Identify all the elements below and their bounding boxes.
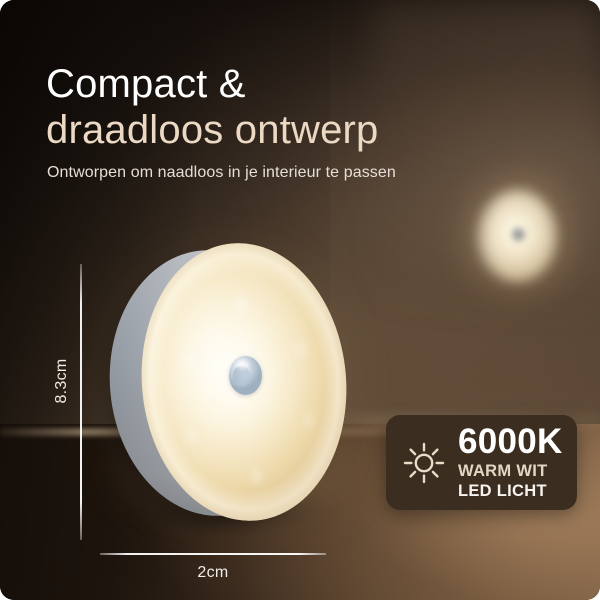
product-marketing-image: Compact & draadloos ontwerp Ontworpen om… <box>0 0 600 600</box>
height-dimension-line <box>80 264 82 540</box>
led-puck-light-product <box>104 238 354 528</box>
subtitle: Ontworpen om naadloos in je interieur te… <box>47 164 396 182</box>
headline-line-1: Compact & <box>46 62 546 107</box>
width-dimension-label: 2cm <box>100 564 326 582</box>
badge-subtitle-line-2: LED LICHT <box>458 481 563 501</box>
width-dimension-line <box>100 553 326 555</box>
motion-sensor-highlight <box>236 360 248 369</box>
background-lamp-sensor-icon <box>512 228 525 241</box>
badge-text-block: 6000K WARM WIT LED LICHT <box>458 424 563 501</box>
sun-icon <box>400 439 448 487</box>
color-temperature-badge: 6000K WARM WIT LED LICHT <box>386 415 577 510</box>
badge-subtitle-line-1: WARM WIT <box>458 461 563 481</box>
headline-line-2: draadloos ontwerp <box>46 107 546 154</box>
blurred-background-lamp <box>470 186 566 286</box>
badge-kelvin-value: 6000K <box>458 424 563 459</box>
motion-sensor-facet <box>233 366 250 387</box>
headline: Compact & draadloos ontwerp <box>46 62 546 154</box>
height-dimension-label: 8.3cm <box>53 353 71 409</box>
